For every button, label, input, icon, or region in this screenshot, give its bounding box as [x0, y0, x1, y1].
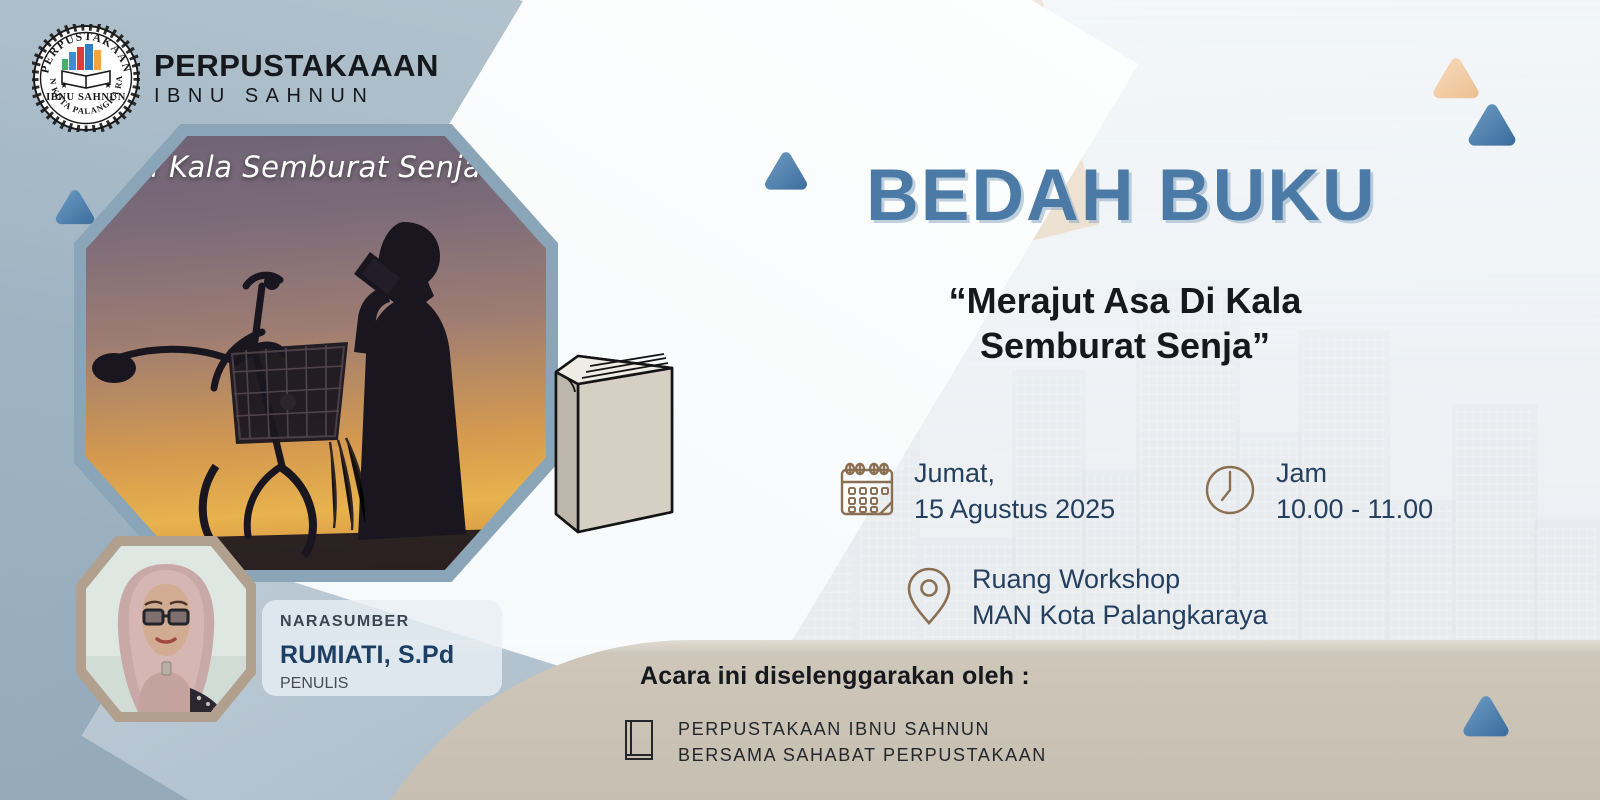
- event-time-text: Jam 10.00 - 11.00: [1276, 456, 1433, 527]
- event-time-line-2: 10.00 - 11.00: [1276, 492, 1433, 528]
- bottom-tan-band-highlight: [330, 640, 1600, 654]
- event-venue-line-2: MAN Kota Palangkaraya: [972, 598, 1268, 634]
- svg-text:IBNU SAHNUN: IBNU SAHNUN: [46, 92, 126, 103]
- speaker-name: RUMIATI, S.Pd: [280, 641, 454, 670]
- svg-text:★: ★: [104, 80, 112, 90]
- event-venue-text: Ruang Workshop MAN Kota Palangkaraya: [972, 562, 1268, 633]
- book-cover-image: i Kala Semburat Senja: [86, 136, 546, 570]
- speaker-profession: PENULIS: [280, 675, 348, 693]
- logo-line-2: IBNU SAHNUN: [154, 86, 439, 106]
- speaker-role-label: NARASUMBER: [280, 613, 410, 631]
- book-icon: [620, 717, 658, 768]
- subtitle-line-2: Semburat Senja”: [866, 323, 1384, 368]
- triangle-blue-center: [761, 150, 811, 196]
- map-pin-icon: [902, 563, 956, 632]
- event-date-line-1: Jumat,: [914, 456, 1115, 492]
- library-logo: PERPUSTAKAAN MAN KOTA PALANGKA RAYA IBNU…: [32, 24, 439, 132]
- organizer-names: PERPUSTAKAAN IBNU SAHNUN BERSAMA SAHABAT…: [678, 716, 1047, 768]
- clock-icon: [1200, 459, 1260, 524]
- logo-wordmark: PERPUSTAKAAAN IBNU SAHNUN: [154, 50, 439, 106]
- organizer-strip: PERPUSTAKAAN IBNU SAHNUN BERSAMA SAHABAT…: [620, 716, 1047, 768]
- organizer-line-1: PERPUSTAKAAN IBNU SAHNUN: [678, 716, 1047, 742]
- organizer-heading: Acara ini diselenggarakan oleh :: [640, 662, 1030, 691]
- speaker-photo: [86, 546, 246, 712]
- event-date-block: Jumat, 15 Agustus 2025: [836, 456, 1115, 527]
- event-venue-line-1: Ruang Workshop: [972, 562, 1268, 598]
- logo-line-1: PERPUSTAKAAAN: [154, 50, 439, 81]
- triangle-blue-top-right: [1463, 102, 1521, 154]
- book-title-subtitle: “Merajut Asa Di Kala Semburat Senja”: [866, 278, 1384, 368]
- event-date-line-2: 15 Agustus 2025: [914, 492, 1115, 528]
- book-illustration-icon: [540, 336, 690, 546]
- event-poster: PERPUSTAKAAN MAN KOTA PALANGKA RAYA IBNU…: [0, 0, 1600, 800]
- event-time-line-1: Jam: [1276, 456, 1433, 492]
- page-title: BEDAH BUKU: [866, 154, 1377, 237]
- calendar-icon: [836, 458, 898, 525]
- triangle-peach-top-right: [1428, 56, 1484, 106]
- organizer-line-2: BERSAMA SAHABAT PERPUSTAKAAN: [678, 742, 1047, 768]
- library-seal-icon: PERPUSTAKAAN MAN KOTA PALANGKA RAYA IBNU…: [32, 24, 140, 132]
- speaker-info-card: NARASUMBER RUMIATI, S.Pd PENULIS: [262, 600, 502, 696]
- event-time-block: Jam 10.00 - 11.00: [1200, 456, 1433, 527]
- subtitle-line-1: “Merajut Asa Di Kala: [866, 278, 1384, 323]
- event-venue-block: Ruang Workshop MAN Kota Palangkaraya: [902, 562, 1268, 633]
- svg-text:★: ★: [60, 80, 68, 90]
- cover-silhouette-art: [86, 136, 546, 570]
- event-date-text: Jumat, 15 Agustus 2025: [914, 456, 1115, 527]
- triangle-blue-bottom-right: [1458, 694, 1514, 746]
